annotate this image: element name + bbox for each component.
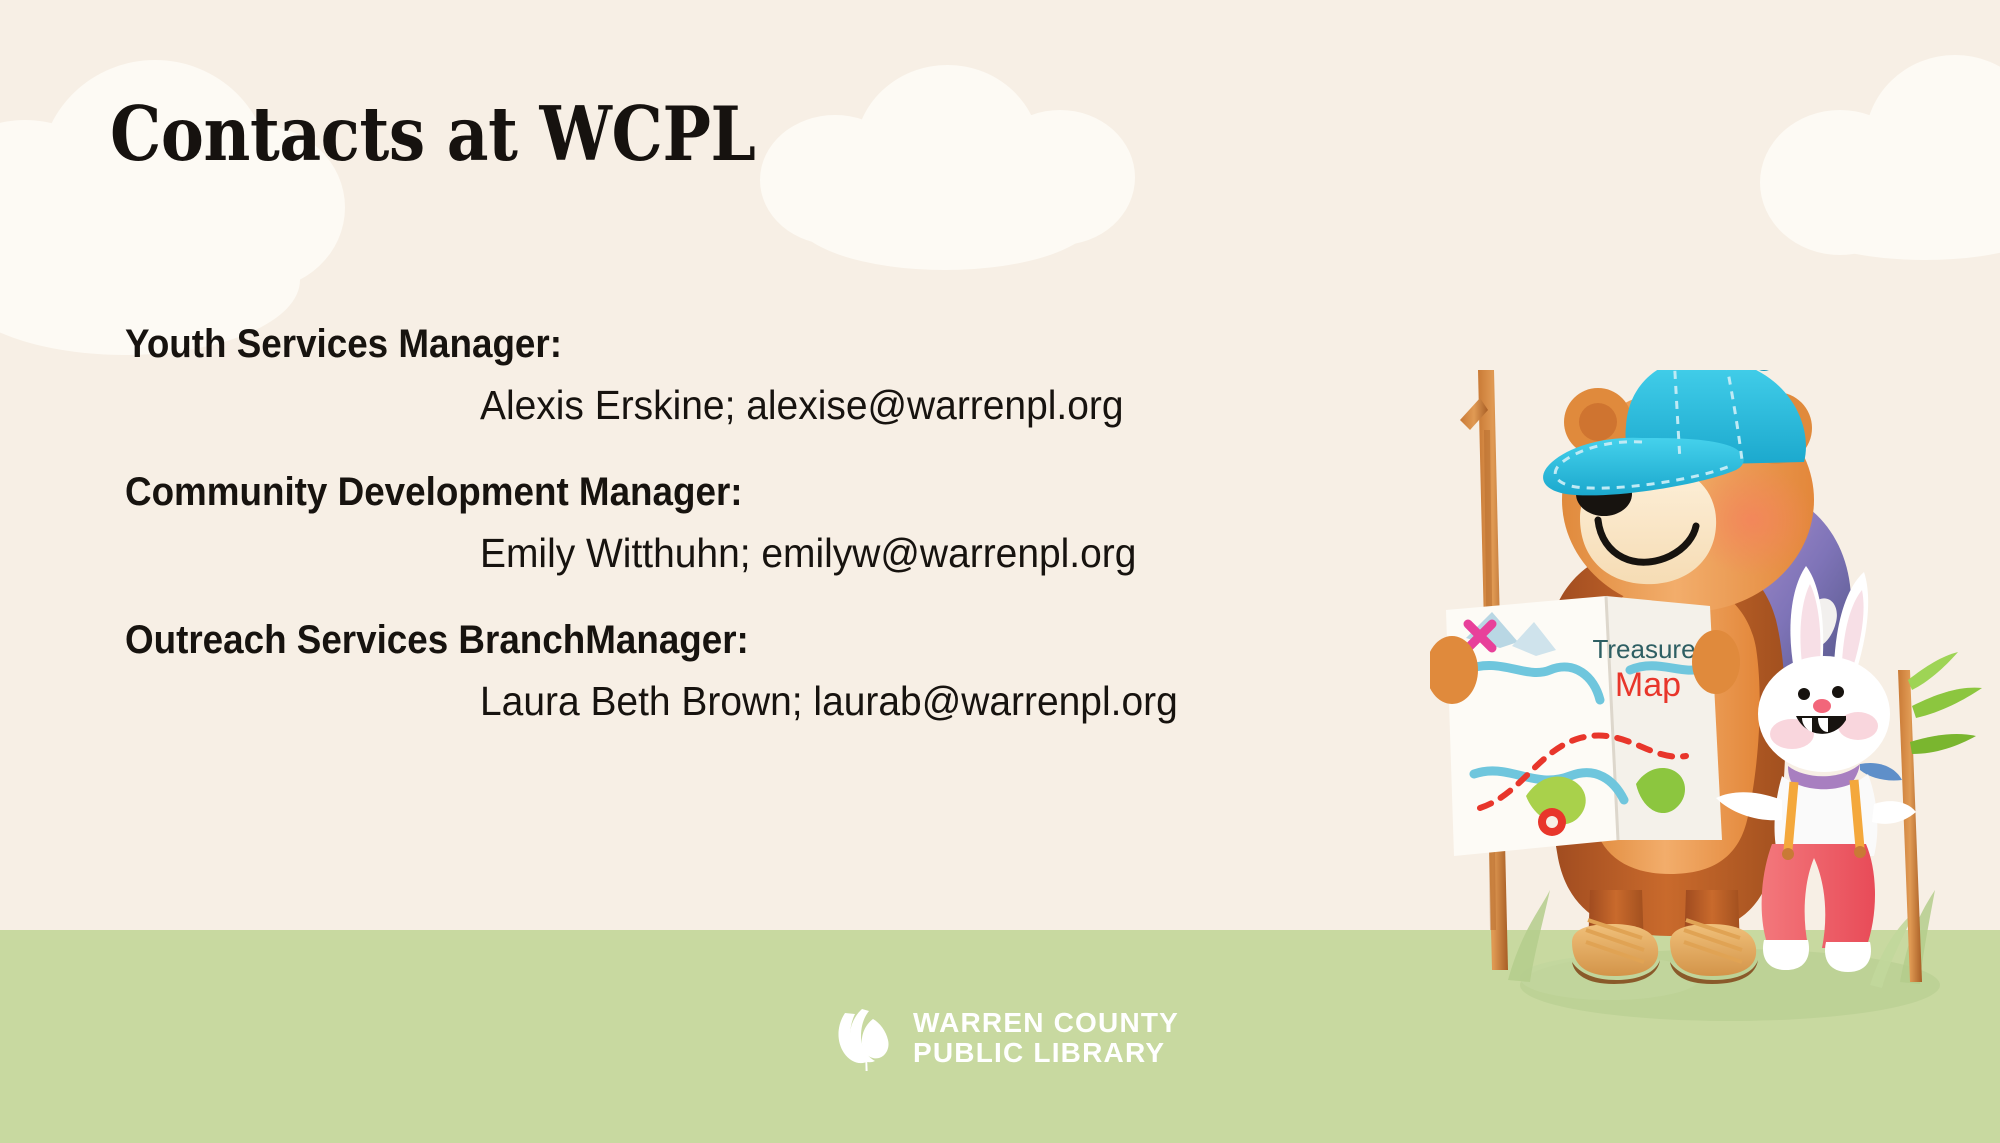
svg-text:Map: Map [1615, 666, 1681, 704]
contact-role-label: Community Development Manager: [125, 468, 1303, 517]
contact-block-youth-services: Youth Services Manager: Alexis Erskine; … [125, 320, 1405, 432]
logo-text-block: WARREN COUNTY PUBLIC LIBRARY [913, 1008, 1179, 1068]
library-logo: WARREN COUNTY PUBLIC LIBRARY [835, 1005, 1179, 1071]
illustration-svg: Treasure Map [1430, 370, 2000, 1030]
contact-block-community-development: Community Development Manager: Emily Wit… [125, 468, 1405, 580]
contact-role-label: Youth Services Manager: [125, 320, 1303, 369]
contact-person-label: Alexis Erskine; alexise@warrenpl.org [480, 379, 1359, 432]
svg-text:Treasure: Treasure [1592, 634, 1695, 664]
bear-and-rabbit-hikers-illustration: Treasure Map [1430, 370, 2000, 1030]
contact-person-label: Laura Beth Brown; laurab@warrenpl.org [480, 675, 1359, 728]
slide-canvas: Contacts at WCPL Youth Services Manager:… [0, 0, 2000, 1143]
page-title: Contacts at WCPL [110, 95, 755, 174]
contact-person-label: Emily Witthuhn; emilyw@warrenpl.org [480, 527, 1359, 580]
contacts-list: Youth Services Manager: Alexis Erskine; … [125, 320, 1405, 764]
contact-block-outreach-services: Outreach Services BranchManager: Laura B… [125, 616, 1405, 728]
leaf-flame-icon [835, 1005, 897, 1071]
logo-line-1: WARREN COUNTY [913, 1008, 1179, 1038]
contact-role-label: Outreach Services BranchManager: [125, 616, 1303, 665]
logo-line-2: PUBLIC LIBRARY [913, 1038, 1179, 1068]
